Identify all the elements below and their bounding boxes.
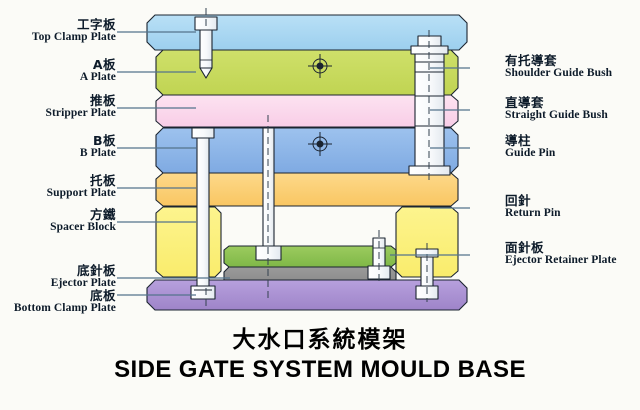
- label-en: Stripper Plate: [46, 108, 117, 120]
- label-en: A Plate: [80, 72, 116, 84]
- label-spacer-block: 方鐵 Spacer Block: [50, 209, 116, 233]
- label-stripper-plate: 推板 Stripper Plate: [46, 95, 117, 119]
- label-ejector-retainer-plate: 面針板 Ejector Retainer Plate: [505, 242, 617, 266]
- label-guide-pin: 導柱 Guide Pin: [505, 135, 555, 159]
- label-b-plate: B板 B Plate: [80, 135, 116, 159]
- label-a-plate: A板 A Plate: [80, 59, 116, 83]
- label-en: Bottom Clamp Plate: [14, 303, 116, 315]
- label-ejector-plate: 底針板 Ejector Plate: [51, 265, 116, 289]
- label-en: Top Clamp Plate: [32, 32, 116, 44]
- label-bottom-clamp-plate: 底板 Bottom Clamp Plate: [14, 290, 116, 314]
- label-cn: 底板: [14, 290, 116, 303]
- label-straight-guide-bush: 直導套 Straight Guide Bush: [505, 97, 608, 121]
- label-en: Straight Guide Bush: [505, 110, 608, 122]
- label-cn: 工字板: [32, 19, 116, 32]
- label-cn: 直導套: [505, 97, 608, 110]
- label-cn: 推板: [46, 95, 117, 108]
- label-top-clamp-plate: 工字板 Top Clamp Plate: [32, 19, 116, 43]
- label-cn: 底針板: [51, 265, 116, 278]
- label-en: Ejector Retainer Plate: [505, 255, 617, 267]
- label-cn: 面針板: [505, 242, 617, 255]
- mould-base-diagram: 工字板 Top Clamp Plate A板 A Plate 推板 Stripp…: [0, 0, 640, 410]
- plate-stripper: [156, 95, 458, 127]
- label-en: Return Pin: [505, 208, 561, 220]
- label-en: Guide Pin: [505, 148, 555, 160]
- spacer-block-left: [156, 207, 221, 277]
- label-en: Shoulder Guide Bush: [505, 68, 612, 80]
- title-chinese: 大水口系統模架: [0, 320, 640, 354]
- label-cn: 導柱: [505, 135, 555, 148]
- label-cn: B板: [80, 135, 116, 148]
- label-cn: 有托導套: [505, 55, 612, 68]
- label-cn: 回針: [505, 195, 561, 208]
- label-support-plate: 托板 Support Plate: [47, 175, 116, 199]
- label-cn: A板: [80, 59, 116, 72]
- label-shoulder-guide-bush: 有托導套 Shoulder Guide Bush: [505, 55, 612, 79]
- diagram-title: 大水口系統模架 SIDE GATE SYSTEM MOULD BASE: [0, 320, 640, 384]
- title-english: SIDE GATE SYSTEM MOULD BASE: [0, 356, 640, 384]
- label-en: Support Plate: [47, 188, 116, 200]
- label-cn: 托板: [47, 175, 116, 188]
- label-return-pin: 回針 Return Pin: [505, 195, 561, 219]
- plate-ejector-retainer: [224, 246, 396, 267]
- label-en: B Plate: [80, 148, 116, 160]
- label-cn: 方鐵: [50, 209, 116, 222]
- label-en: Spacer Block: [50, 222, 116, 234]
